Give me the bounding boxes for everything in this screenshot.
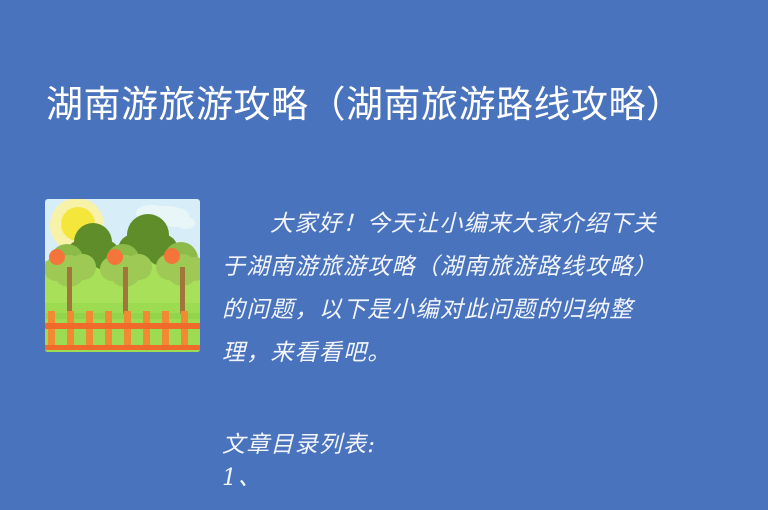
article-intro-paragraph: 大家好！今天让小编来大家介绍下关于湖南游旅游攻略（湖南旅游路线攻略）的问题，以下… — [222, 203, 662, 375]
page-title: 湖南游旅游攻略（湖南旅游路线攻略） — [46, 79, 686, 131]
orchard-illustration — [45, 199, 200, 352]
orchard-scene-icon — [45, 199, 200, 352]
toc-item-1: 1、 — [222, 465, 262, 491]
article-page: 湖南游旅游攻略（湖南旅游路线攻略） — [0, 0, 768, 510]
toc-heading: 文章目录列表: — [222, 432, 376, 458]
article-toc-block: 文章目录列表: 1、 — [222, 429, 662, 495]
